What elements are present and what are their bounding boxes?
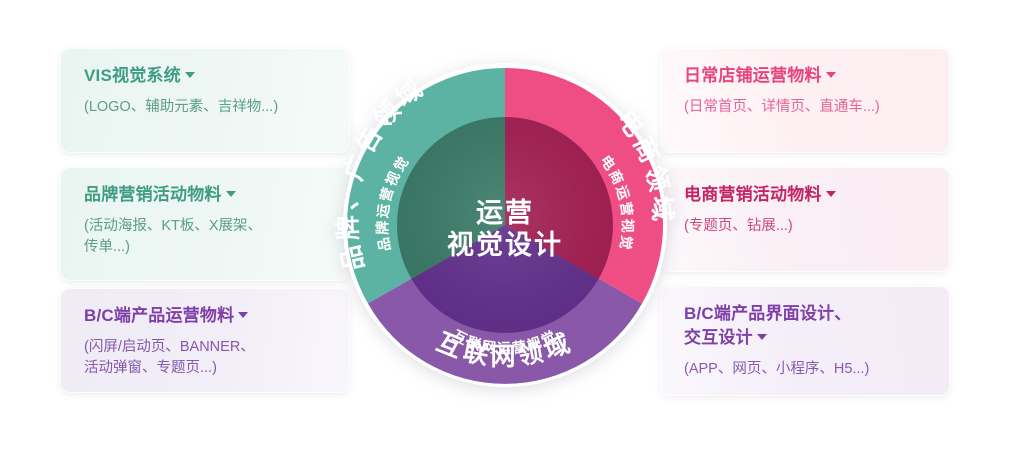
card-bc-product-operation-material[interactable]: B/C端产品运营物料 (闪屏/启动页、BANNER、 活动弹窗、专题页...) [60, 288, 350, 393]
card-vis-visual-system[interactable]: VIS视觉系统 (LOGO、辅助元素、吉祥物...) [60, 48, 350, 153]
chevron-down-icon[interactable] [185, 72, 195, 78]
card-bc-product-ui-interaction-design[interactable]: B/C端产品界面设计、 交互设计 (APP、网页、小程序、H5...) [660, 286, 950, 396]
core-title-line1: 运营 [476, 198, 534, 228]
card-title: B/C端产品运营物料 [84, 304, 328, 328]
card-title: 电商营销活动物料 [684, 183, 928, 207]
card-brand-marketing-material[interactable]: 品牌营销活动物料 (活动海报、KT板、X展架、 传单...) [60, 167, 350, 281]
card-subtitle: (日常首页、详情页、直通车...) [684, 97, 928, 118]
chevron-down-icon[interactable] [826, 72, 836, 78]
card-daily-store-operation-material[interactable]: 日常店铺运营物料 (日常首页、详情页、直通车...) [660, 48, 950, 153]
infographic-canvas: VIS视觉系统 (LOGO、辅助元素、吉祥物...) 品牌营销活动物料 (活动海… [0, 0, 1010, 450]
card-subtitle: (专题页、钻展...) [684, 216, 928, 237]
card-title: 日常店铺运营物料 [684, 64, 928, 88]
card-title: B/C端产品界面设计、 交互设计 [684, 302, 928, 350]
chevron-down-icon[interactable] [826, 191, 836, 197]
card-subtitle: (活动海报、KT板、X展架、 传单...) [84, 216, 328, 258]
card-subtitle: (APP、网页、小程序、H5...) [684, 359, 928, 380]
card-subtitle: (闪屏/启动页、BANNER、 活动弹窗、专题页...) [84, 337, 328, 379]
card-title: VIS视觉系统 [84, 64, 328, 88]
segmented-wheel-diagram: 品牌、广告领域 电商领域 互联网领域 品牌运营视觉 电商运营视觉 互联网运营视觉… [320, 40, 690, 410]
chevron-down-icon[interactable] [757, 334, 767, 340]
core-title-line2: 视觉设计 [447, 230, 563, 260]
chevron-down-icon[interactable] [238, 312, 248, 318]
card-subtitle: (LOGO、辅助元素、吉祥物...) [84, 97, 328, 118]
chevron-down-icon[interactable] [226, 191, 236, 197]
card-ecommerce-marketing-material[interactable]: 电商营销活动物料 (专题页、钻展...) [660, 167, 950, 272]
card-title: 品牌营销活动物料 [84, 183, 328, 207]
